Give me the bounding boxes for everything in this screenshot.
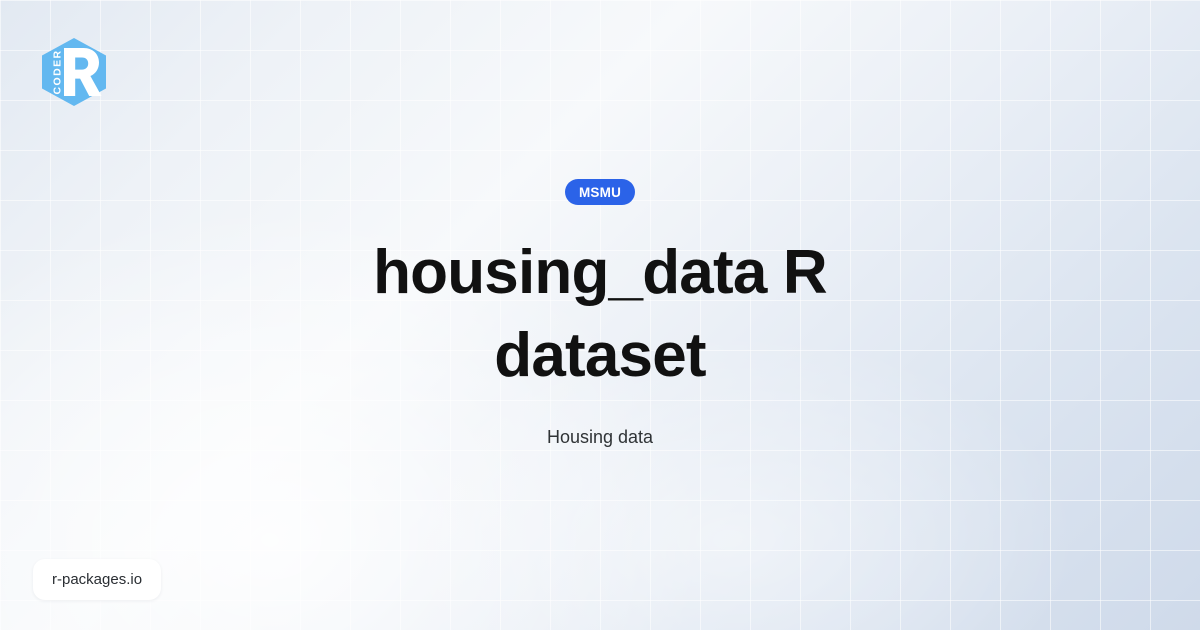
status-badge: MSMU xyxy=(565,179,635,205)
site-url-chip[interactable]: r-packages.io xyxy=(33,559,161,600)
hero-section: MSMU housing_data R dataset Housing data xyxy=(0,0,1200,630)
page-title: housing_data R dataset xyxy=(320,231,880,397)
page-subtitle: Housing data xyxy=(547,425,653,450)
